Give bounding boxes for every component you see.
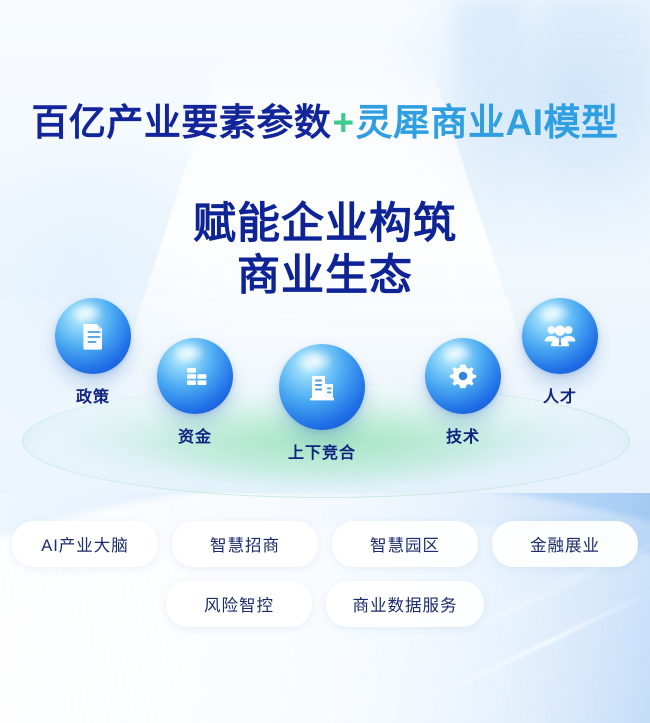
subheadline-line-1: 赋能企业构筑 [0, 198, 650, 250]
pill-row-primary: AI产业大脑 智慧招商 智慧园区 金融展业 [0, 521, 650, 567]
headline-plus-symbol: + [331, 102, 355, 143]
pill-ai-industry-brain[interactable]: AI产业大脑 [12, 521, 158, 567]
node-label-policy: 政策 [48, 383, 138, 407]
poster-canvas: 百亿产业要素参数+灵犀商业AI模型 赋能企业构筑 商业生态 政策 [0, 0, 650, 723]
sphere-talent[interactable] [522, 298, 598, 374]
pill-business-data-service[interactable]: 商业数据服务 [326, 581, 484, 627]
pill-financial-business[interactable]: 金融展业 [492, 521, 638, 567]
pill-risk-control[interactable]: 风险智控 [166, 581, 312, 627]
node-talent[interactable]: 人才 [515, 298, 605, 407]
headline: 百亿产业要素参数+灵犀商业AI模型 [0, 104, 650, 141]
node-upstream-downstream[interactable]: 上下竞合 [267, 344, 377, 463]
node-capital[interactable]: 资金 [150, 338, 240, 447]
pill-smart-investment[interactable]: 智慧招商 [172, 521, 318, 567]
sphere-capital[interactable] [157, 338, 233, 414]
bar-chart-icon [178, 359, 212, 393]
node-label-upstream-downstream: 上下竞合 [267, 439, 377, 463]
building-icon [303, 368, 341, 406]
headline-dark-text: 百亿产业要素参数 [31, 102, 331, 143]
subheadline: 赋能企业构筑 商业生态 [0, 198, 650, 303]
headline-blue-text: 灵犀商业AI模型 [356, 102, 619, 143]
node-technology[interactable]: 技术 [418, 338, 508, 447]
node-label-capital: 资金 [150, 423, 240, 447]
node-label-technology: 技术 [418, 423, 508, 447]
subheadline-line-2: 商业生态 [0, 250, 650, 302]
sphere-technology[interactable] [425, 338, 501, 414]
pill-row-secondary: 风险智控 商业数据服务 [0, 581, 650, 627]
document-icon [76, 319, 110, 353]
gear-icon [446, 359, 480, 393]
wave-shape-3 [0, 543, 650, 723]
people-group-icon [542, 318, 578, 354]
pill-smart-park[interactable]: 智慧园区 [332, 521, 478, 567]
sphere-policy[interactable] [55, 298, 131, 374]
node-label-talent: 人才 [515, 383, 605, 407]
node-policy[interactable]: 政策 [48, 298, 138, 407]
sphere-upstream-downstream[interactable] [279, 344, 365, 430]
